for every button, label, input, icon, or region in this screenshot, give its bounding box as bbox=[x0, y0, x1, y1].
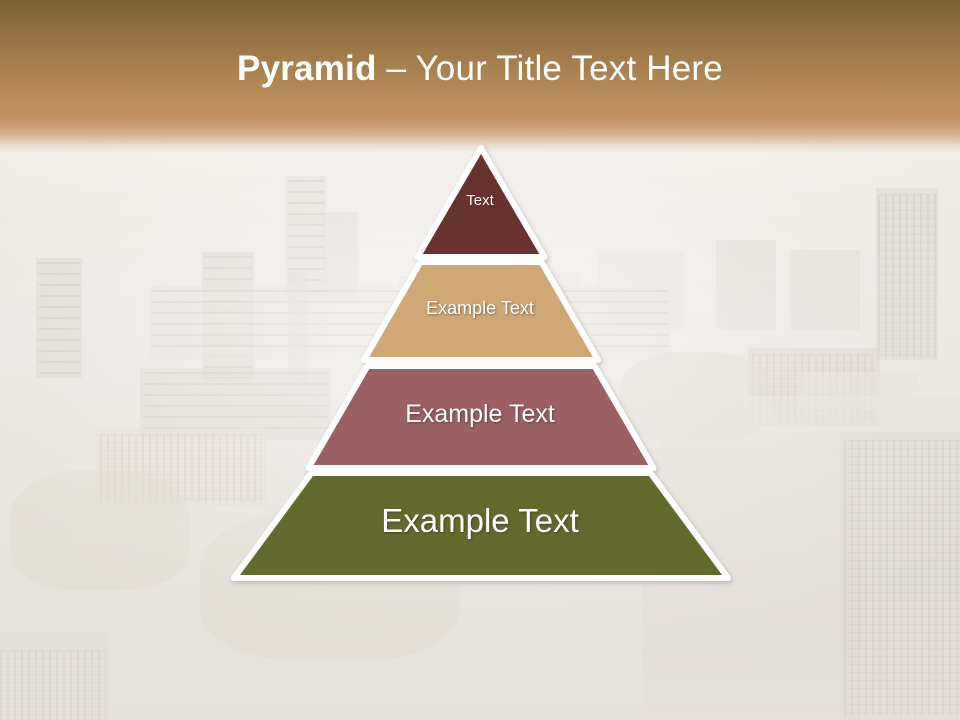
pyramid-tier-2[interactable] bbox=[364, 262, 598, 360]
pyramid-tier-4[interactable] bbox=[234, 473, 728, 578]
pyramid-diagram bbox=[0, 0, 960, 720]
pyramid-tier-1[interactable] bbox=[418, 148, 545, 257]
pyramid-tier-3[interactable] bbox=[309, 366, 654, 468]
presentation-slide: Pyramid – Your Title Text Here Text Exam… bbox=[0, 0, 960, 720]
